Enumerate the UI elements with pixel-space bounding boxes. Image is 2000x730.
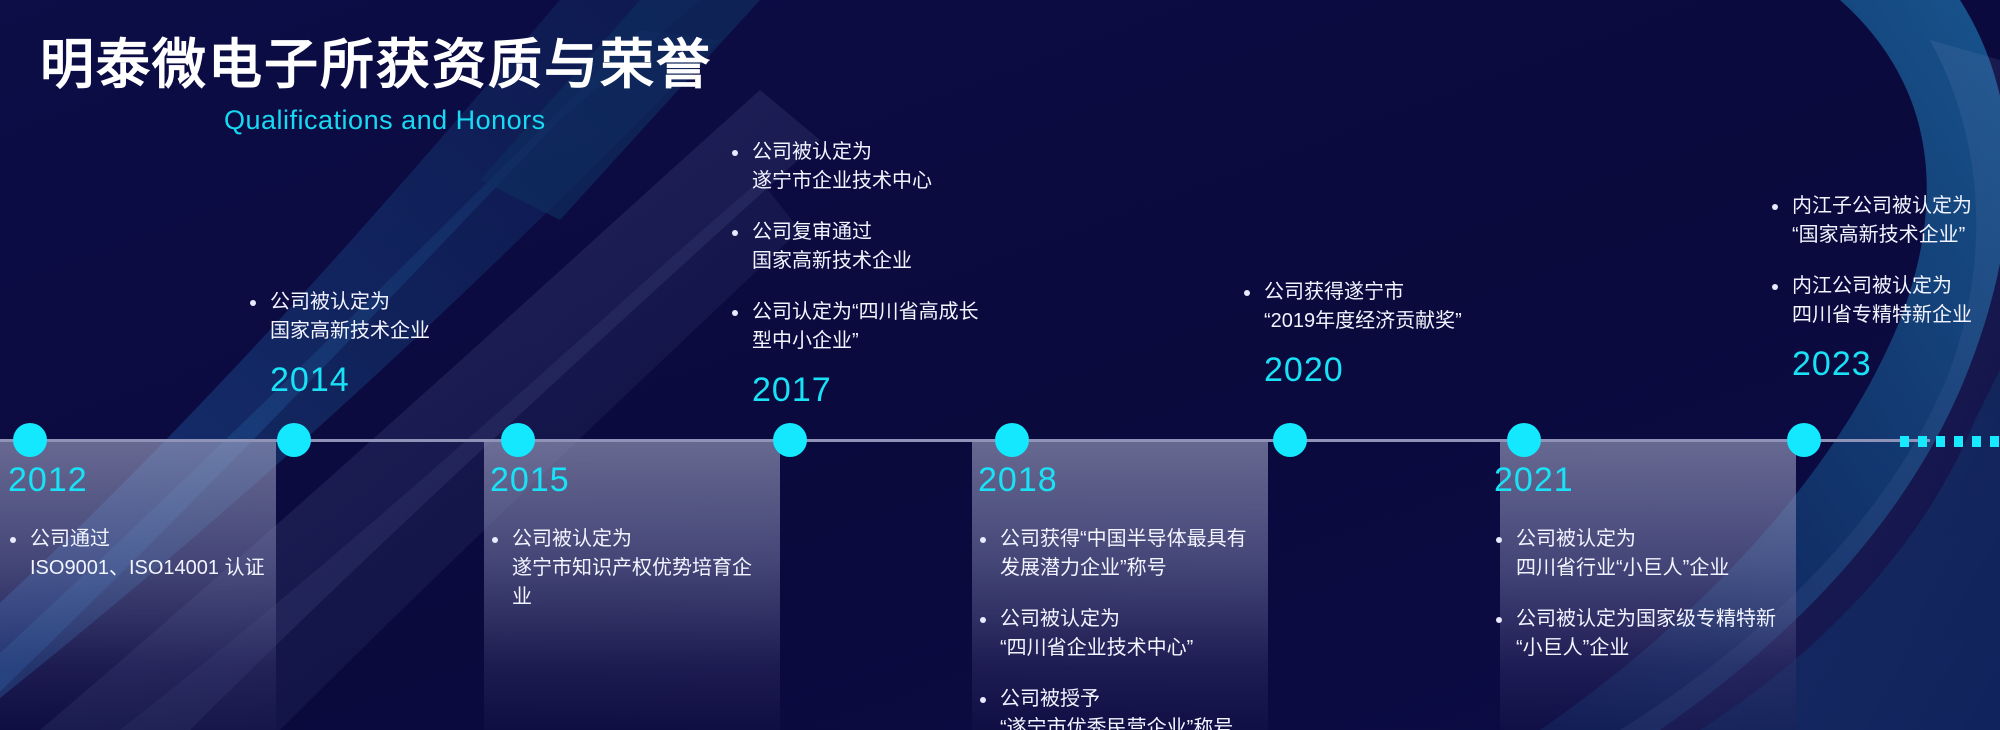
- year-label-2020: 2020: [1264, 352, 1562, 389]
- bullet-list-2020: 公司获得遂宁市 “2019年度经济贡献奖”: [1242, 278, 1562, 336]
- year-label-2018: 2018: [978, 462, 1278, 499]
- timeline-entry-2023: 内江子公司被认定为 “国家高新技术企业” 内江公司被认定为 四川省专精特新企业 …: [1770, 192, 2000, 383]
- timeline-entry-2012: 2012 公司通过 ISO9001、ISO14001 认证: [8, 462, 308, 583]
- bullet-item: 公司被认定为 “四川省企业技术中心”: [978, 605, 1278, 663]
- bullet-item: 公司被认定为国家级专精特新 “小巨人”企业: [1494, 605, 1824, 663]
- bullet-item: 公司被授予 “遂宁市优秀民营企业”称号: [978, 685, 1278, 730]
- timeline-axis-dashes: [1900, 436, 1999, 447]
- timeline-node-2012[interactable]: [13, 423, 47, 457]
- bullet-list-2023: 内江子公司被认定为 “国家高新技术企业” 内江公司被认定为 四川省专精特新企业: [1770, 192, 2000, 330]
- page-title: 明泰微电子所获资质与荣誉: [40, 36, 712, 95]
- timeline-entry-2020: 公司获得遂宁市 “2019年度经济贡献奖” 2020: [1242, 278, 1562, 389]
- timeline-entry-2015: 2015 公司被认定为 遂宁市知识产权优势培育企 业: [490, 462, 790, 612]
- year-label-2023: 2023: [1792, 346, 2000, 383]
- bullet-item: 公司被认定为 四川省行业“小巨人”企业: [1494, 525, 1824, 583]
- timeline-node-2021[interactable]: [1507, 423, 1541, 457]
- axis-dash: [1900, 436, 1909, 447]
- timeline-node-2014[interactable]: [277, 423, 311, 457]
- year-label-2015: 2015: [490, 462, 790, 499]
- year-label-2021: 2021: [1494, 462, 1824, 499]
- axis-dash: [1936, 436, 1945, 447]
- bullet-list-2021: 公司被认定为 四川省行业“小巨人”企业 公司被认定为国家级专精特新 “小巨人”企…: [1494, 525, 1824, 663]
- bullet-item: 公司复审通过 国家高新技术企业: [730, 218, 1050, 276]
- bullet-list-2015: 公司被认定为 遂宁市知识产权优势培育企 业: [490, 525, 790, 612]
- bullet-item: 公司被认定为 遂宁市企业技术中心: [730, 138, 1050, 196]
- timeline-entry-2018: 2018 公司获得“中国半导体最具有 发展潜力企业”称号 公司被认定为 “四川省…: [978, 462, 1278, 730]
- year-label-2014: 2014: [270, 362, 558, 399]
- timeline-infographic: 明泰微电子所获资质与荣誉 Qualifications and Honors 2…: [0, 0, 2000, 730]
- bullet-list-2012: 公司通过 ISO9001、ISO14001 认证: [8, 525, 308, 583]
- bullet-list-2017: 公司被认定为 遂宁市企业技术中心 公司复审通过 国家高新技术企业 公司认定为“四…: [730, 138, 1050, 356]
- timeline-entry-2021: 2021 公司被认定为 四川省行业“小巨人”企业 公司被认定为国家级专精特新 “…: [1494, 462, 1824, 663]
- axis-dash: [1990, 436, 1999, 447]
- page-header: 明泰微电子所获资质与荣誉 Qualifications and Honors: [40, 36, 712, 136]
- bullet-item: 公司被认定为 国家高新技术企业: [248, 288, 558, 346]
- bullet-item: 公司获得“中国半导体最具有 发展潜力企业”称号: [978, 525, 1278, 583]
- bullet-list-2014: 公司被认定为 国家高新技术企业: [248, 288, 558, 346]
- bullet-item: 公司认定为“四川省高成长 型中小企业”: [730, 298, 1050, 356]
- year-label-2012: 2012: [8, 462, 308, 499]
- axis-dash: [1918, 436, 1927, 447]
- axis-dash: [1972, 436, 1981, 447]
- bullet-item: 公司获得遂宁市 “2019年度经济贡献奖”: [1242, 278, 1562, 336]
- timeline-entry-2014: 公司被认定为 国家高新技术企业 2014: [248, 288, 558, 399]
- page-subtitle: Qualifications and Honors: [224, 105, 712, 136]
- bullet-item: 公司被认定为 遂宁市知识产权优势培育企 业: [490, 525, 790, 612]
- timeline-node-2018[interactable]: [995, 423, 1029, 457]
- bullet-item: 内江子公司被认定为 “国家高新技术企业”: [1770, 192, 2000, 250]
- year-label-2017: 2017: [752, 372, 1050, 409]
- timeline-entry-2017: 公司被认定为 遂宁市企业技术中心 公司复审通过 国家高新技术企业 公司认定为“四…: [730, 138, 1050, 409]
- axis-dash: [1954, 436, 1963, 447]
- bullet-list-2018: 公司获得“中国半导体最具有 发展潜力企业”称号 公司被认定为 “四川省企业技术中…: [978, 525, 1278, 730]
- timeline-node-2023[interactable]: [1787, 423, 1821, 457]
- bullet-item: 公司通过 ISO9001、ISO14001 认证: [8, 525, 308, 583]
- timeline-node-2020[interactable]: [1273, 423, 1307, 457]
- timeline-node-2015[interactable]: [501, 423, 535, 457]
- timeline-node-2017[interactable]: [773, 423, 807, 457]
- bullet-item: 内江公司被认定为 四川省专精特新企业: [1770, 272, 2000, 330]
